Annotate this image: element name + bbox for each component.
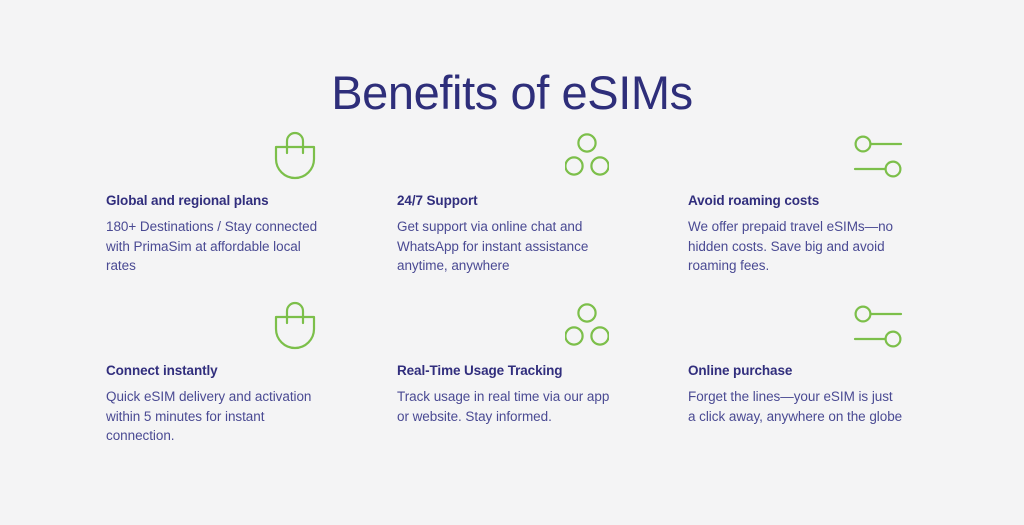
benefit-card: Connect instantly Quick eSIM delivery an… [106, 301, 397, 471]
benefit-text: Real-Time Usage Tracking Track usage in … [397, 362, 612, 426]
benefits-grid: Global and regional plans 180+ Destinati… [106, 131, 938, 471]
benefit-body: Quick eSIM delivery and activation withi… [106, 387, 321, 446]
benefit-body: Get support via online chat and WhatsApp… [397, 217, 612, 276]
benefit-text: 24/7 Support Get support via online chat… [397, 192, 612, 276]
three-circles-icon [397, 131, 609, 189]
page-title: Benefits of eSIMs [0, 64, 1024, 122]
benefit-card: Real-Time Usage Tracking Track usage in … [397, 301, 688, 471]
shopping-bag-icon [106, 301, 318, 359]
benefit-body: We offer prepaid travel eSIMs—no hidden … [688, 217, 903, 276]
benefit-heading: Online purchase [688, 362, 903, 380]
benefit-card: Avoid roaming costs We offer prepaid tra… [688, 131, 938, 301]
benefit-body: 180+ Destinations / Stay connected with … [106, 217, 321, 276]
benefit-text: Global and regional plans 180+ Destinati… [106, 192, 321, 276]
benefit-heading: Avoid roaming costs [688, 192, 903, 210]
benefit-text: Online purchase Forget the lines—your eS… [688, 362, 903, 426]
shopping-bag-icon [106, 131, 318, 189]
benefit-body: Forget the lines—your eSIM is just a cli… [688, 387, 903, 426]
benefit-heading: Real-Time Usage Tracking [397, 362, 612, 380]
benefit-card: 24/7 Support Get support via online chat… [397, 131, 688, 301]
three-circles-icon [397, 301, 609, 359]
sliders-icon [688, 301, 903, 359]
benefit-card: Online purchase Forget the lines—your eS… [688, 301, 938, 471]
benefit-heading: Connect instantly [106, 362, 321, 380]
benefit-heading: 24/7 Support [397, 192, 612, 210]
benefits-page: Benefits of eSIMs Global and regional pl… [0, 0, 1024, 525]
sliders-icon [688, 131, 903, 189]
benefit-text: Avoid roaming costs We offer prepaid tra… [688, 192, 903, 276]
benefit-card: Global and regional plans 180+ Destinati… [106, 131, 397, 301]
benefit-heading: Global and regional plans [106, 192, 321, 210]
benefit-text: Connect instantly Quick eSIM delivery an… [106, 362, 321, 446]
benefit-body: Track usage in real time via our app or … [397, 387, 612, 426]
